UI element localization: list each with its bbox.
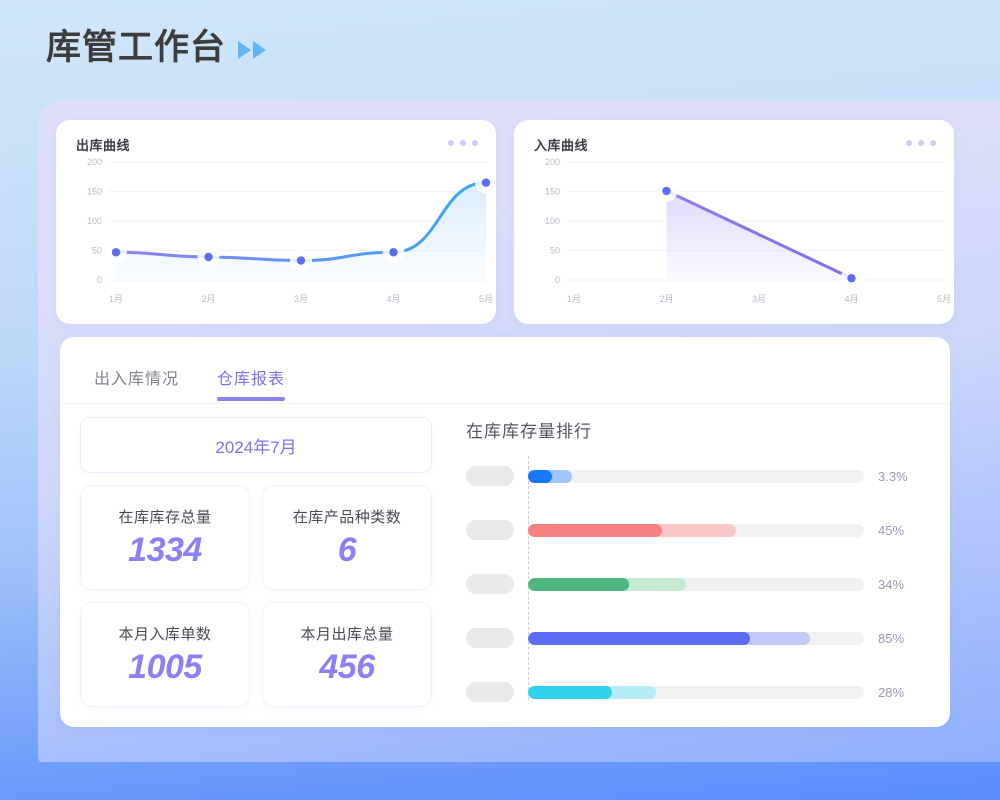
ranking-bar-fill [528, 632, 750, 645]
ranking-label-placeholder [466, 466, 514, 486]
stat-value: 456 [319, 648, 374, 687]
ranking-list: 3.3%45%34%85%28% [466, 462, 926, 706]
ranking-row[interactable]: 45% [466, 516, 926, 544]
svg-text:100: 100 [87, 216, 102, 226]
ranking-row[interactable]: 34% [466, 570, 926, 598]
arrow-glyph-1 [238, 41, 251, 59]
arrow-glyph-2 [253, 41, 266, 59]
svg-text:200: 200 [545, 157, 560, 167]
ranking-row[interactable]: 3.3% [466, 462, 926, 490]
stat-row-2: 本月入库单数 1005 本月出库总量 456 [80, 602, 432, 707]
ranking-bar-fill [528, 578, 629, 591]
chart-data-point [482, 178, 490, 186]
stat-label: 在库产品种类数 [293, 506, 402, 527]
page-header: 库管工作台 [46, 30, 266, 65]
stat-label: 本月入库单数 [118, 623, 211, 644]
svg-text:50: 50 [92, 246, 102, 256]
chart-data-point [112, 248, 120, 256]
stat-card-product-types[interactable]: 在库产品种类数 6 [262, 485, 432, 590]
ranking-percent-label: 3.3% [878, 469, 926, 484]
ranking-label-placeholder [466, 520, 514, 540]
stat-value: 6 [338, 531, 356, 570]
ranking-bar-track [528, 524, 864, 537]
svg-text:5月: 5月 [937, 294, 951, 304]
tab-warehouse-report[interactable]: 仓库报表 [217, 365, 285, 401]
svg-text:100: 100 [545, 216, 560, 226]
svg-text:4月: 4月 [844, 294, 858, 304]
ranking-row[interactable]: 28% [466, 678, 926, 706]
tab-divider [60, 403, 950, 404]
chart-data-point [662, 187, 670, 195]
stat-card-inbound-orders[interactable]: 本月入库单数 1005 [80, 602, 250, 707]
ranking-title: 在库库存量排行 [466, 417, 926, 442]
ranking-percent-label: 45% [878, 523, 926, 538]
svg-text:3月: 3月 [294, 294, 308, 304]
svg-text:1月: 1月 [567, 294, 581, 304]
ranking-column: 在库库存量排行 3.3%45%34%85%28% [466, 417, 926, 706]
ranking-label-placeholder [466, 628, 514, 648]
ranking-bar-track [528, 632, 864, 645]
chart-data-point [204, 253, 212, 261]
svg-text:200: 200 [87, 157, 102, 167]
ranking-bar-track [528, 686, 864, 699]
stat-card-total-stock[interactable]: 在库库存总量 1334 [80, 485, 250, 590]
svg-text:5月: 5月 [479, 294, 493, 304]
svg-text:0: 0 [555, 275, 560, 285]
ranking-baseline [528, 456, 529, 700]
more-dots-icon[interactable] [906, 140, 936, 146]
outbound-chart-card: 出库曲线 0501001502001月2月3月4月5月 [56, 120, 496, 324]
svg-text:2月: 2月 [659, 294, 673, 304]
date-selector[interactable]: 2024年7月 [80, 417, 432, 473]
inbound-chart-card: 入库曲线 0501001502001月2月3月4月5月 [514, 120, 954, 324]
outbound-line-chart: 0501001502001月2月3月4月5月 [56, 152, 496, 324]
svg-text:0: 0 [97, 275, 102, 285]
svg-text:150: 150 [545, 187, 560, 197]
ranking-percent-label: 28% [878, 685, 926, 700]
chart-data-point [389, 248, 397, 256]
ranking-bar-track [528, 578, 864, 591]
stat-row-1: 在库库存总量 1334 在库产品种类数 6 [80, 485, 432, 590]
stat-label: 在库库存总量 [118, 506, 211, 527]
ranking-percent-label: 85% [878, 631, 926, 646]
double-right-arrow-icon[interactable] [238, 41, 266, 59]
svg-text:3月: 3月 [752, 294, 766, 304]
stat-value: 1005 [128, 648, 202, 687]
chart-data-point [847, 274, 855, 282]
ranking-row[interactable]: 85% [466, 624, 926, 652]
stat-value: 1334 [128, 531, 202, 570]
chart-data-point [297, 256, 305, 264]
stat-card-outbound-total[interactable]: 本月出库总量 456 [262, 602, 432, 707]
stats-column: 2024年7月 在库库存总量 1334 在库产品种类数 6 本月入库单数 100… [80, 417, 432, 707]
stat-label: 本月出库总量 [300, 623, 393, 644]
ranking-bar-track [528, 470, 864, 483]
svg-text:1月: 1月 [109, 294, 123, 304]
ranking-label-placeholder [466, 574, 514, 594]
svg-text:4月: 4月 [386, 294, 400, 304]
ranking-percent-label: 34% [878, 577, 926, 592]
ranking-bar-fill [528, 470, 552, 483]
ranking-bar-fill [528, 524, 662, 537]
svg-text:2月: 2月 [201, 294, 215, 304]
inbound-line-chart: 0501001502001月2月3月4月5月 [514, 152, 954, 324]
report-card: 出入库情况 仓库报表 2024年7月 在库库存总量 1334 在库产品种类数 6… [60, 337, 950, 727]
tab-bar: 出入库情况 仓库报表 [94, 365, 285, 401]
ranking-label-placeholder [466, 682, 514, 702]
tab-inout-status[interactable]: 出入库情况 [94, 365, 179, 401]
ranking-bar-fill [528, 686, 612, 699]
svg-text:150: 150 [87, 187, 102, 197]
svg-text:50: 50 [550, 246, 560, 256]
page-title: 库管工作台 [46, 30, 226, 65]
more-dots-icon[interactable] [448, 140, 478, 146]
